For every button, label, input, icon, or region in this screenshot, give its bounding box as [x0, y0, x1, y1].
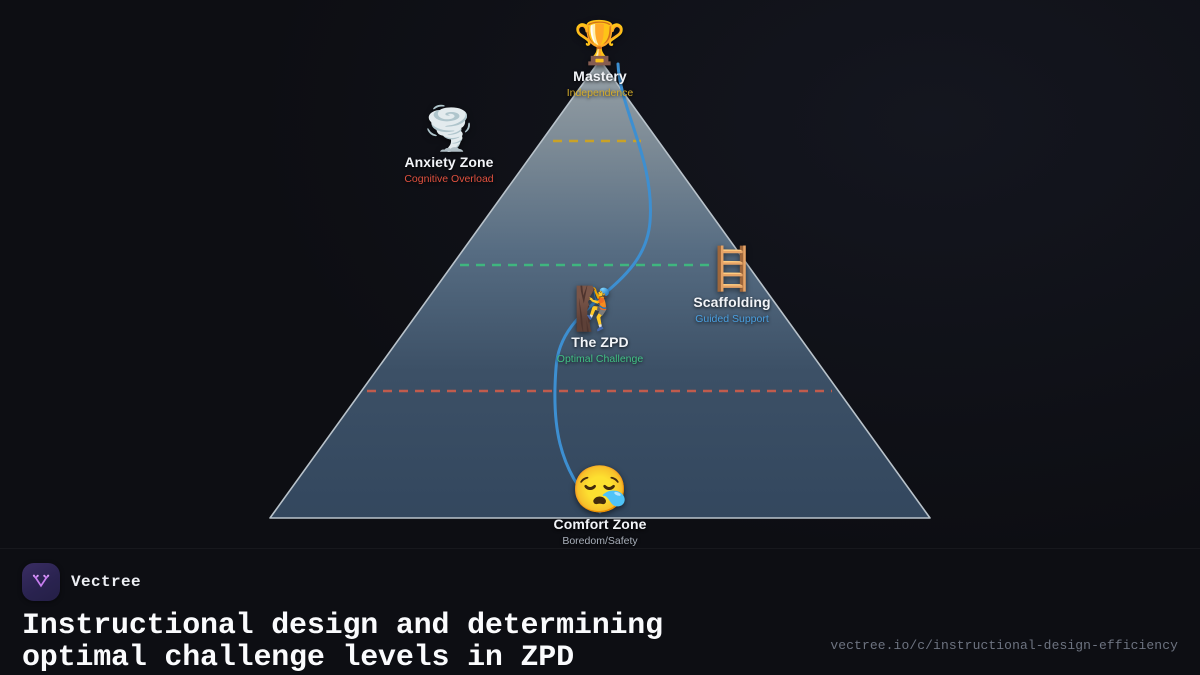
node-zpd[interactable]: 🧗 The ZPD Optimal Challenge [557, 288, 643, 365]
screenshot-root: 🏆 Mastery Independence 🌪️ Anxiety Zone C… [0, 0, 1200, 675]
node-scaffolding-subtitle: Guided Support [693, 313, 770, 325]
node-mastery[interactable]: 🏆 Mastery Independence [567, 22, 634, 99]
brand-name: Vectree [71, 573, 141, 591]
node-mastery-title: Mastery [567, 68, 634, 84]
node-scaffolding[interactable]: 🪜 Scaffolding Guided Support [693, 248, 770, 325]
node-scaffolding-title: Scaffolding [693, 294, 770, 310]
node-anxiety-zone-subtitle: Cognitive Overload [404, 173, 493, 185]
node-comfort-zone[interactable]: 😪 Comfort Zone Boredom/Safety [554, 466, 647, 547]
node-mastery-subtitle: Independence [567, 87, 634, 99]
ladder-icon: 🪜 [693, 248, 770, 290]
node-anxiety-zone[interactable]: 🌪️ Anxiety Zone Cognitive Overload [404, 108, 493, 185]
brand[interactable]: Vectree [22, 563, 141, 601]
page-url: vectree.io/c/instructional-design-effici… [830, 638, 1178, 653]
footer: Vectree Instructional design and determi… [0, 548, 1200, 675]
sleepy-face-icon: 😪 [554, 466, 647, 512]
node-comfort-zone-title: Comfort Zone [554, 516, 647, 532]
vectree-logo-icon [22, 563, 60, 601]
node-comfort-zone-subtitle: Boredom/Safety [554, 535, 647, 547]
node-zpd-subtitle: Optimal Challenge [557, 353, 643, 365]
page-title: Instructional design and determining opt… [22, 610, 663, 675]
person-climbing-icon: 🧗 [557, 288, 643, 330]
node-anxiety-zone-title: Anxiety Zone [404, 154, 493, 170]
tornado-icon: 🌪️ [404, 108, 493, 150]
trophy-icon: 🏆 [567, 22, 634, 64]
node-zpd-title: The ZPD [557, 334, 643, 350]
